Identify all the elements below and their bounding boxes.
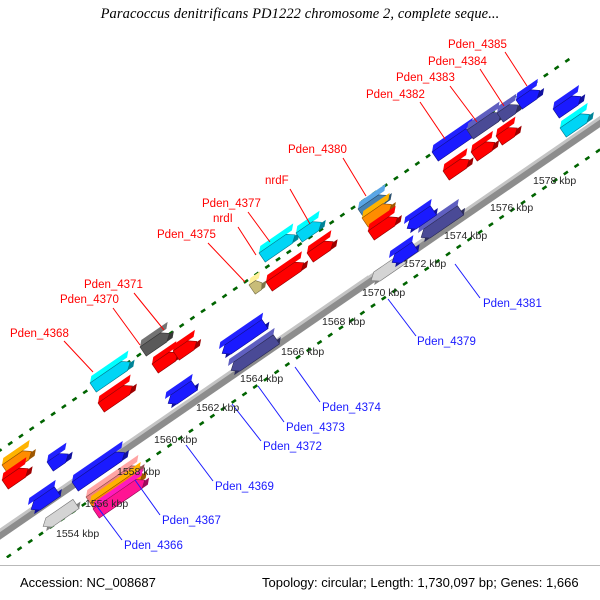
- ruler-dash: [360, 312, 364, 315]
- ruler-dash: [19, 435, 23, 438]
- leader-line: [420, 102, 445, 139]
- ruler-dash: [298, 243, 302, 246]
- ruler-dash: [40, 420, 44, 423]
- gene-label[interactable]: Pden_4381: [483, 298, 542, 310]
- ruler-dash: [39, 533, 43, 536]
- genome-map-graphic[interactable]: Pden_4385Pden_4384Pden_4383Pden_4382Pden…: [0, 28, 600, 558]
- ruler-dash: [7, 555, 11, 558]
- leader-line: [388, 299, 416, 336]
- axis-tick-label: 1558 kbp: [117, 466, 160, 478]
- leader-line: [238, 227, 256, 255]
- ruler-dash: [489, 223, 493, 226]
- ruler-dash: [351, 206, 355, 209]
- axis-tick-label: 1556 kbp: [85, 498, 128, 510]
- ruler-dash: [317, 341, 321, 344]
- axis-tick-label: 1574 kbp: [444, 230, 487, 242]
- gene-label[interactable]: Pden_4371: [84, 279, 143, 291]
- leader-line: [135, 480, 160, 515]
- gene-blue-1579[interactable]: [550, 85, 588, 118]
- gene-label[interactable]: Pden_4380: [288, 144, 347, 156]
- axis-tick-label: 1562 kbp: [196, 402, 239, 414]
- leader-line: [295, 367, 320, 402]
- ruler-dash: [532, 194, 536, 197]
- ruler-dash: [276, 258, 280, 261]
- gene-label[interactable]: Pden_4370: [60, 294, 119, 306]
- ruler-dash: [62, 405, 66, 408]
- leader-line: [248, 212, 270, 242]
- gene-label[interactable]: Pden_4384: [428, 56, 487, 68]
- ruler-dash: [328, 334, 332, 337]
- leader-lines-reverse: [96, 264, 480, 540]
- ruler-dash: [403, 282, 407, 285]
- leader-line: [505, 52, 527, 86]
- gene-label[interactable]: Pden_4367: [162, 515, 221, 527]
- gene-label[interactable]: Pden_4374: [322, 402, 381, 414]
- axis-tick-label: 1570 kbp: [362, 287, 405, 299]
- sequence-viewer-window: Paracoccus denitrificans PD1222 chromoso…: [0, 0, 600, 600]
- ruler-dash: [242, 393, 246, 396]
- leader-line: [450, 86, 477, 122]
- ruler-dash: [394, 177, 398, 180]
- ruler-dash: [371, 304, 375, 307]
- genome-map-canvas[interactable]: Pden_4385Pden_4384Pden_4383Pden_4382Pden…: [0, 28, 600, 558]
- page-title: Paracoccus denitrificans PD1222 chromoso…: [0, 6, 600, 23]
- ruler-dash: [146, 459, 150, 462]
- ruler-dash: [157, 452, 161, 455]
- leader-line: [258, 386, 284, 422]
- ruler-dash: [189, 429, 193, 432]
- axis-tick-label: 1554 kbp: [56, 528, 99, 540]
- ruler-dash: [500, 216, 504, 219]
- ruler-dash: [565, 59, 569, 62]
- ruler-dash: [575, 164, 579, 167]
- gene-label[interactable]: Pden_4368: [10, 328, 69, 340]
- axis-tick-label: 1566 kbp: [281, 346, 324, 358]
- ruler-dash: [330, 221, 334, 224]
- ruler-dash: [426, 155, 430, 158]
- gene-blue-1557[interactable]: [44, 443, 75, 471]
- ruler-dash: [596, 150, 600, 153]
- gene-label[interactable]: Pden_4377: [202, 198, 261, 210]
- ruler-dash: [446, 253, 450, 256]
- ruler-dash: [200, 422, 204, 425]
- ruler-dash: [212, 302, 216, 305]
- leader-line: [455, 264, 480, 298]
- leader-line: [208, 243, 245, 282]
- status-bar: Accession: NC_008687 Topology: circular;…: [0, 565, 600, 600]
- ruler-dash: [555, 66, 559, 69]
- ruler-dash: [405, 169, 409, 172]
- ruler-dash: [0, 449, 2, 452]
- topology-label: Topology: circular; Length: 1,730,097 bp…: [262, 575, 579, 590]
- axis-tick-label: 1576 kbp: [490, 202, 533, 214]
- gene-label[interactable]: Pden_4373: [286, 422, 345, 434]
- gene-label[interactable]: Pden_4379: [417, 336, 476, 348]
- leader-line: [480, 69, 504, 106]
- ruler-dash: [457, 245, 461, 248]
- axis-tick-label: 1578 kbp: [533, 175, 576, 187]
- leader-line: [290, 189, 310, 224]
- gene-label[interactable]: nrdF: [265, 175, 289, 187]
- ruler-dash: [414, 275, 418, 278]
- leader-line: [64, 341, 93, 372]
- axis-tick-label: 1564 kbp: [240, 373, 283, 385]
- ruler-dash: [30, 427, 34, 430]
- axis-tick-label: 1572 kbp: [403, 258, 446, 270]
- ruler-dash: [73, 398, 77, 401]
- ruler-dash: [544, 74, 548, 77]
- ruler-dash: [8, 442, 12, 445]
- ruler-dash: [18, 547, 22, 550]
- ruler-dash: [190, 317, 194, 320]
- leader-line: [186, 445, 213, 481]
- gene-label[interactable]: Pden_4375: [157, 229, 216, 241]
- axis-tick-label: 1568 kbp: [322, 316, 365, 328]
- ruler-dash: [564, 172, 568, 175]
- ruler-dash: [51, 413, 55, 416]
- ruler-dash: [285, 363, 289, 366]
- ruler-dash: [223, 295, 227, 298]
- ruler-dash: [137, 354, 141, 357]
- gene-label[interactable]: nrdI: [213, 213, 233, 225]
- gene-labels-forward[interactable]: Pden_4385Pden_4384Pden_4383Pden_4382Pden…: [10, 39, 507, 340]
- ruler-dash: [83, 390, 87, 393]
- gene-label[interactable]: Pden_4382: [366, 89, 425, 101]
- leader-line: [113, 308, 140, 345]
- leader-line: [134, 293, 164, 330]
- gene-label[interactable]: Pden_4385: [448, 39, 507, 51]
- axis-tick-label: 1560 kbp: [154, 434, 197, 446]
- ruler-dash: [265, 265, 269, 268]
- ruler-dash: [253, 385, 257, 388]
- gene-label[interactable]: Pden_4372: [263, 441, 322, 453]
- ruler-dash: [585, 157, 589, 160]
- leader-line: [343, 158, 366, 196]
- ruler-dash: [201, 309, 205, 312]
- gene-label[interactable]: Pden_4366: [124, 540, 183, 552]
- gene-label[interactable]: Pden_4383: [396, 72, 455, 84]
- ruler-dash: [287, 251, 291, 254]
- accession-label: Accession: NC_008687: [20, 575, 156, 590]
- gene-tan-4375[interactable]: [246, 271, 269, 294]
- ruler-dash: [210, 415, 214, 418]
- gene-label[interactable]: Pden_4369: [215, 481, 274, 493]
- gene-blue-4385[interactable]: [513, 79, 547, 109]
- ruler-dash: [180, 324, 184, 327]
- ruler-dash: [233, 287, 237, 290]
- ruler-dash: [340, 214, 344, 217]
- ruler-dash: [28, 540, 32, 543]
- ruler-dash: [415, 162, 419, 165]
